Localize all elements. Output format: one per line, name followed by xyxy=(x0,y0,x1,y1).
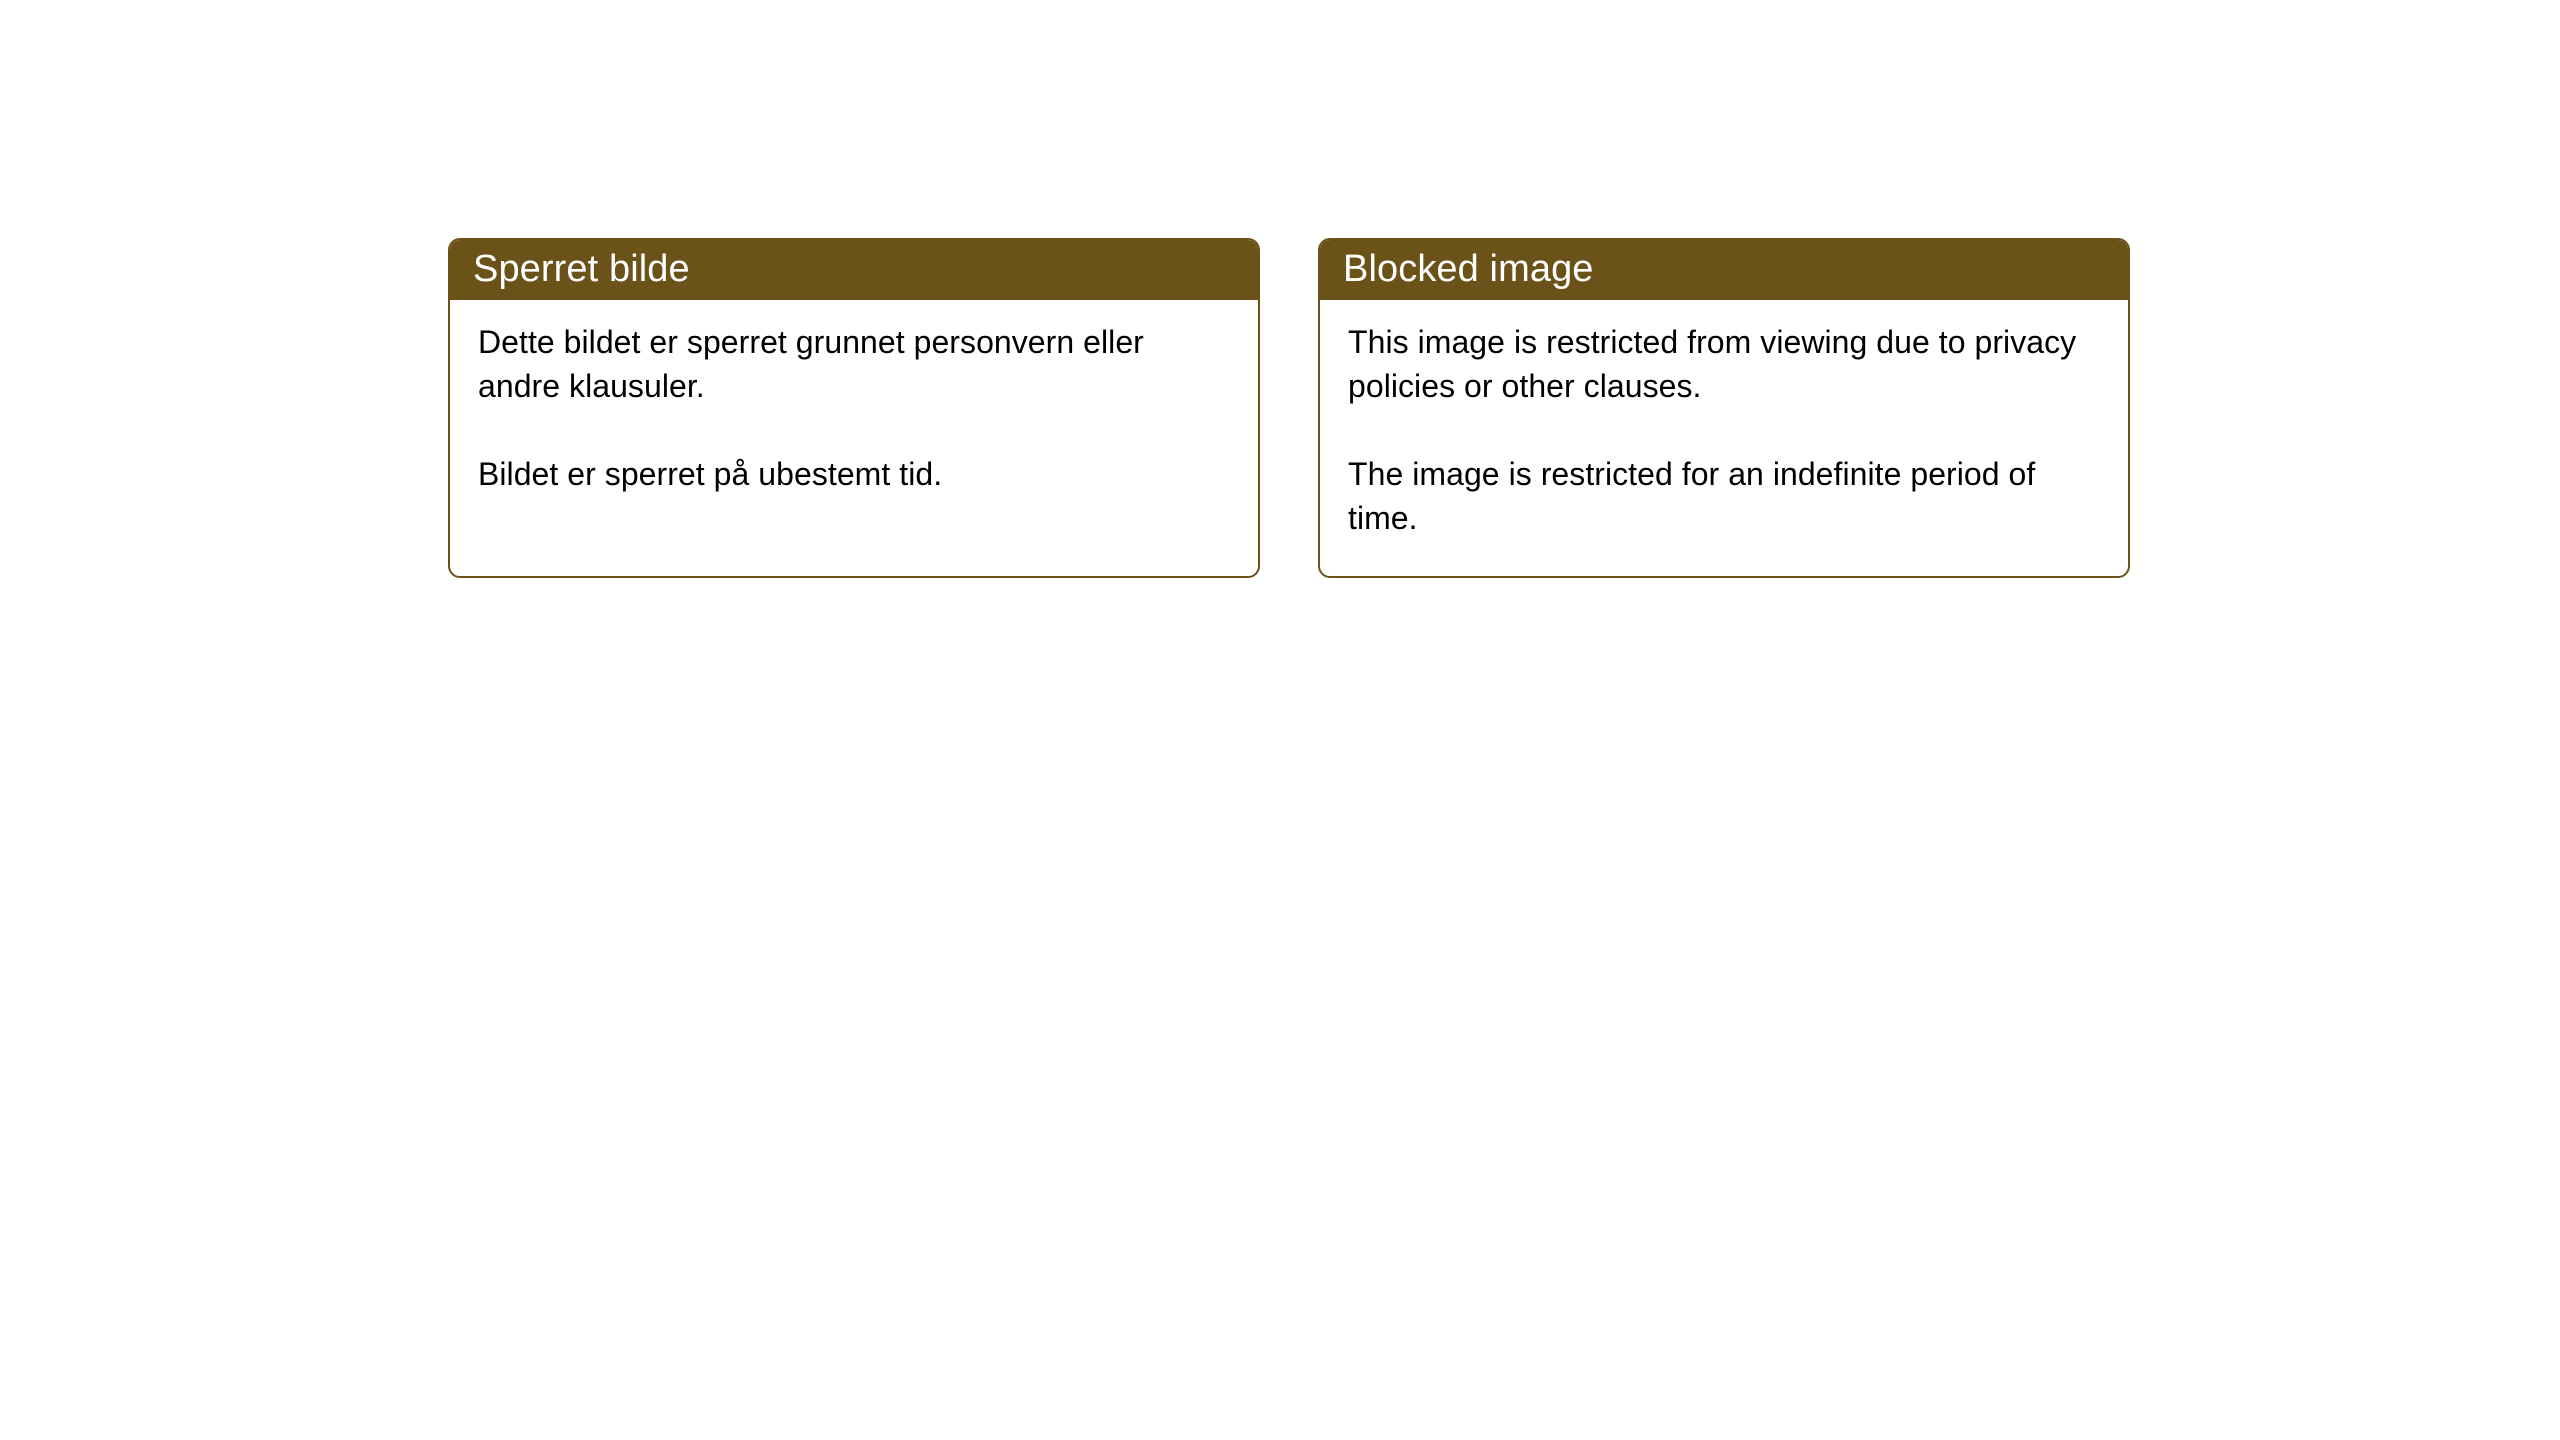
blocked-image-notice-norwegian: Sperret bilde Dette bildet er sperret gr… xyxy=(448,238,1260,578)
notice-paragraph-english-2: The image is restricted for an indefinit… xyxy=(1348,452,2104,540)
notice-paragraph-norwegian-1: Dette bildet er sperret grunnet personve… xyxy=(478,320,1234,408)
blocked-image-notice-english: Blocked image This image is restricted f… xyxy=(1318,238,2130,578)
notice-paragraph-norwegian-2: Bildet er sperret på ubestemt tid. xyxy=(478,452,1234,496)
page-root: Sperret bilde Dette bildet er sperret gr… xyxy=(0,0,2560,1440)
notice-body-english: This image is restricted from viewing du… xyxy=(1320,300,2128,540)
notice-header-norwegian: Sperret bilde xyxy=(448,238,1260,300)
notice-header-english: Blocked image xyxy=(1318,238,2130,300)
notice-paragraph-english-1: This image is restricted from viewing du… xyxy=(1348,320,2104,408)
notice-title-english: Blocked image xyxy=(1343,247,1594,291)
notice-body-norwegian: Dette bildet er sperret grunnet personve… xyxy=(450,300,1258,496)
notice-title-norwegian: Sperret bilde xyxy=(473,247,690,291)
